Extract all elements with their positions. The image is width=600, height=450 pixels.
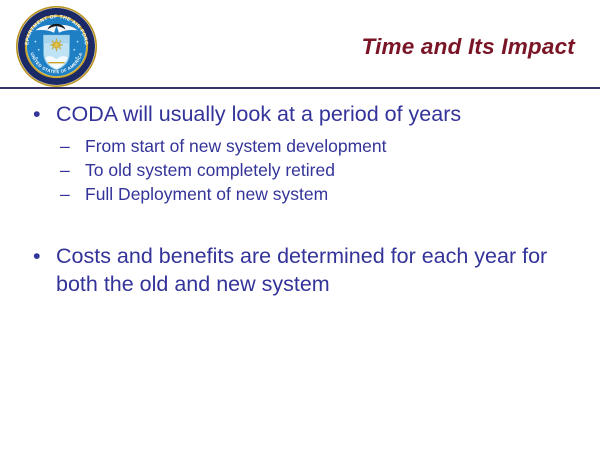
air-force-seal-icon: DEPARTMENT OF THE AIR FORCE UNITED STATE… — [16, 6, 97, 87]
bullet-level2: – Full Deployment of new system — [0, 182, 600, 206]
bullet-dash-icon: – — [60, 158, 70, 182]
bullet-dot-icon: • — [33, 242, 41, 270]
bullet-text: To old system completely retired — [85, 160, 335, 180]
bullet-dash-icon: – — [60, 134, 70, 158]
bullet-dash-icon: – — [60, 182, 70, 206]
bullet-text: CODA will usually look at a period of ye… — [56, 102, 461, 126]
bullet-level2: – From start of new system development — [0, 134, 600, 158]
bullet-level2: – To old system completely retired — [0, 158, 600, 182]
bullet-level1: • CODA will usually look at a period of … — [0, 100, 600, 128]
bullet-text: Full Deployment of new system — [85, 184, 328, 204]
sub-bullet-group: – From start of new system development –… — [0, 134, 600, 206]
bullet-dot-icon: • — [33, 100, 41, 128]
bullet-level1: • Costs and benefits are determined for … — [0, 242, 600, 298]
body-spacer — [0, 206, 600, 242]
slide-canvas: DEPARTMENT OF THE AIR FORCE UNITED STATE… — [0, 0, 600, 450]
header-divider — [0, 87, 600, 89]
slide-title: Time and Its Impact — [120, 34, 575, 60]
slide-body: • CODA will usually look at a period of … — [0, 100, 600, 298]
bullet-text: Costs and benefits are determined for ea… — [56, 244, 547, 296]
bullet-text: From start of new system development — [85, 136, 387, 156]
